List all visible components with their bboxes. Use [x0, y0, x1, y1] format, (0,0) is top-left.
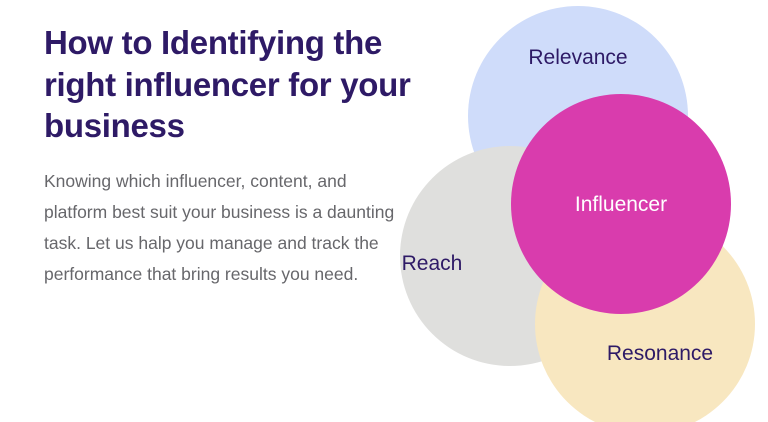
venn-label-relevance: Relevance	[508, 46, 648, 70]
influencer-venn-diagram: Relevance Reach Resonance Influencer	[0, 0, 768, 422]
venn-label-resonance: Resonance	[584, 342, 736, 366]
venn-label-reach: Reach	[362, 252, 502, 276]
infographic-slide: How to Identifying the right influencer …	[0, 0, 768, 422]
venn-label-influencer: Influencer	[546, 193, 696, 217]
